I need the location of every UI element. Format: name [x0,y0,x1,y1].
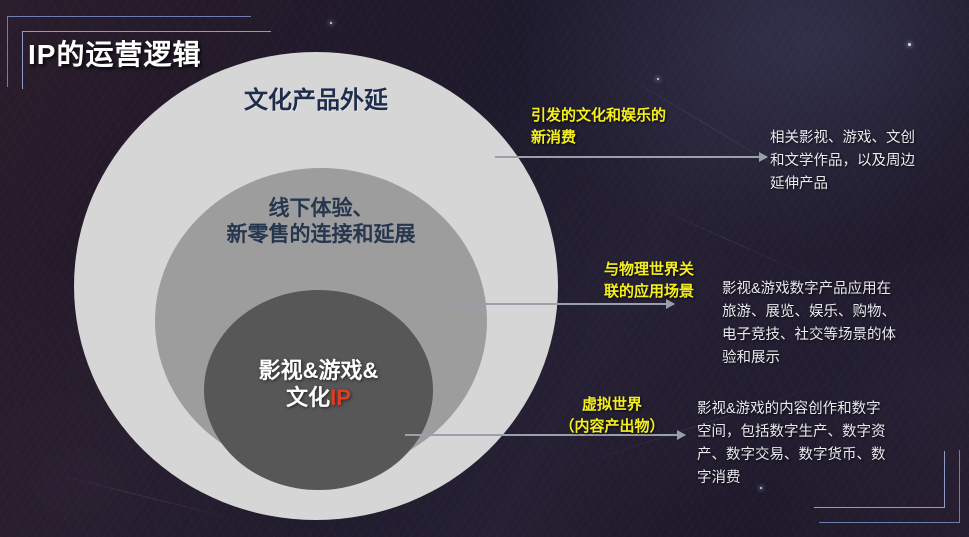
background-speck [330,22,332,24]
background-speck [908,43,911,46]
callout-description-1: 相关影视、游戏、文创 和文学作品，以及周边 延伸产品 [770,127,956,196]
ring-middle-label: 线下体验、 新零售的连接和延展 [155,196,487,247]
callout-title-1: 引发的文化和娱乐的 新消费 [531,105,781,149]
background-speck [657,78,659,80]
slide-canvas: IP的运营逻辑 文化产品外延 线下体验、 新零售的连接和延展 影视&游戏& 文化… [0,0,969,537]
callout-description-2: 影视&游戏数字产品应用在 旅游、展览、娱乐、购物、 电子竞技、社交等场景的体 验… [722,278,940,370]
ring-inner-label-accent: IP [330,385,351,410]
ring-inner-label-text: 影视&游戏& 文化 [259,358,379,410]
leader-arrow-2 [452,303,674,305]
page-title: IP的运营逻辑 [28,33,201,73]
callout-title-3: 虚拟世界 （内容产出物） [536,394,688,438]
callout-description-3: 影视&游戏的内容创作和数字 空间，包括数字生产、数字资 产、数字交易、数字货币、… [697,398,939,490]
ring-inner-label: 影视&游戏& 文化IP [204,358,433,412]
ring-outer-label: 文化产品外延 [74,86,558,115]
leader-arrow-1 [495,156,767,158]
